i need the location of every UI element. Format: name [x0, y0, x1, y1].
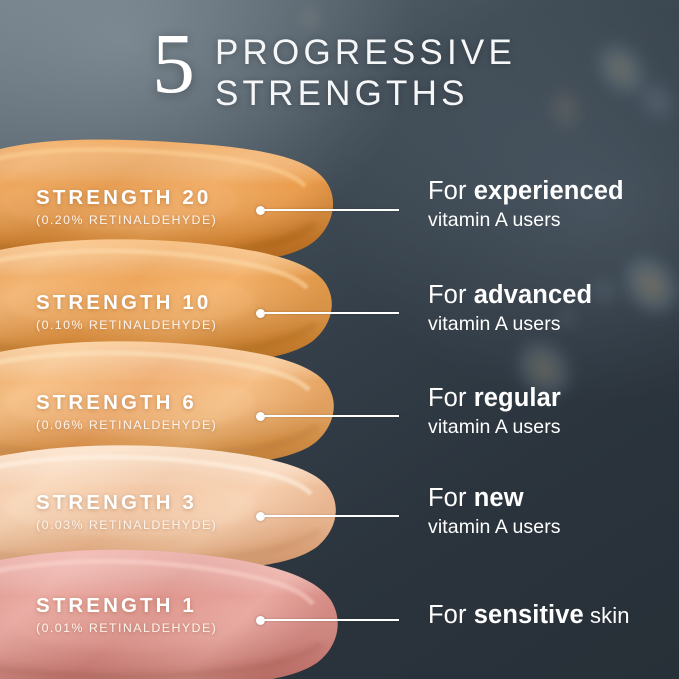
product-strengths-infographic: 5 PROGRESSIVE STRENGTHS — [0, 0, 679, 679]
description-line-1: For advanced — [428, 281, 592, 310]
strength-label-3: STRENGTH 3 (0.03% RETINALDEHYDE) — [36, 491, 217, 532]
heading-number: 5 — [152, 24, 193, 103]
strength-title: STRENGTH 3 — [36, 491, 217, 515]
description-prefix: For — [428, 281, 474, 309]
description-emphasis: regular — [474, 384, 561, 412]
description-line-2: vitamin A users — [428, 415, 561, 439]
description-6: For regular vitamin A users — [428, 384, 561, 439]
description-suffix: skin — [584, 603, 630, 628]
strength-title: STRENGTH 1 — [36, 594, 217, 618]
connector-line-20 — [256, 203, 399, 217]
bokeh-orb — [545, 80, 586, 123]
description-emphasis: experienced — [474, 177, 624, 205]
description-line-1: For new — [428, 484, 561, 513]
strength-title: STRENGTH 6 — [36, 391, 217, 415]
description-line-2: vitamin A users — [428, 208, 624, 232]
connector-line-3 — [256, 509, 399, 523]
description-line-2: vitamin A users — [428, 515, 561, 539]
strength-label-6: STRENGTH 6 (0.06% RETINALDEHYDE) — [36, 391, 217, 432]
connector-stroke — [264, 619, 399, 621]
description-emphasis: new — [474, 484, 524, 512]
description-emphasis: advanced — [474, 281, 592, 309]
connector-stroke — [264, 209, 399, 211]
connector-line-10 — [256, 306, 399, 320]
heading-line-2: STRENGTHS — [215, 73, 516, 114]
description-prefix: For — [428, 601, 474, 629]
strength-label-10: STRENGTH 10 (0.10% RETINALDEHYDE) — [36, 291, 217, 332]
bokeh-orb — [538, 86, 592, 142]
description-prefix: For — [428, 384, 474, 412]
strength-title: STRENGTH 20 — [36, 186, 217, 210]
bokeh-orb — [612, 244, 679, 325]
description-prefix: For — [428, 177, 474, 205]
connector-stroke — [264, 312, 399, 314]
connector-line-6 — [256, 409, 399, 423]
page-title: 5 PROGRESSIVE STRENGTHS — [152, 28, 516, 115]
strength-subtitle: (0.03% RETINALDEHYDE) — [36, 518, 217, 532]
strength-subtitle: (0.20% RETINALDEHYDE) — [36, 213, 217, 227]
connector-stroke — [264, 415, 399, 417]
connector-line-1 — [256, 613, 399, 627]
description-line-1: For sensitive skin — [428, 601, 630, 630]
description-10: For advanced vitamin A users — [428, 281, 592, 336]
description-line-1: For regular — [428, 384, 561, 413]
strength-subtitle: (0.10% RETINALDEHYDE) — [36, 318, 217, 332]
description-line-2: vitamin A users — [428, 312, 592, 336]
connector-stroke — [264, 515, 399, 517]
description-line-1: For experienced — [428, 177, 624, 206]
description-emphasis: sensitive — [474, 601, 584, 629]
heading-text: PROGRESSIVE STRENGTHS — [215, 28, 516, 115]
description-20: For experienced vitamin A users — [428, 177, 624, 232]
bokeh-orb — [584, 30, 658, 107]
strength-subtitle: (0.06% RETINALDEHYDE) — [36, 418, 217, 432]
strength-title: STRENGTH 10 — [36, 291, 217, 315]
strength-subtitle: (0.01% RETINALDEHYDE) — [36, 621, 217, 635]
bokeh-orb — [625, 68, 679, 134]
strength-label-20: STRENGTH 20 (0.20% RETINALDEHYDE) — [36, 186, 217, 227]
strength-label-1: STRENGTH 1 (0.01% RETINALDEHYDE) — [36, 594, 217, 635]
description-1: For sensitive skin — [428, 601, 630, 630]
description-prefix: For — [428, 484, 474, 512]
description-3: For new vitamin A users — [428, 484, 561, 539]
heading-line-1: PROGRESSIVE — [215, 32, 516, 73]
